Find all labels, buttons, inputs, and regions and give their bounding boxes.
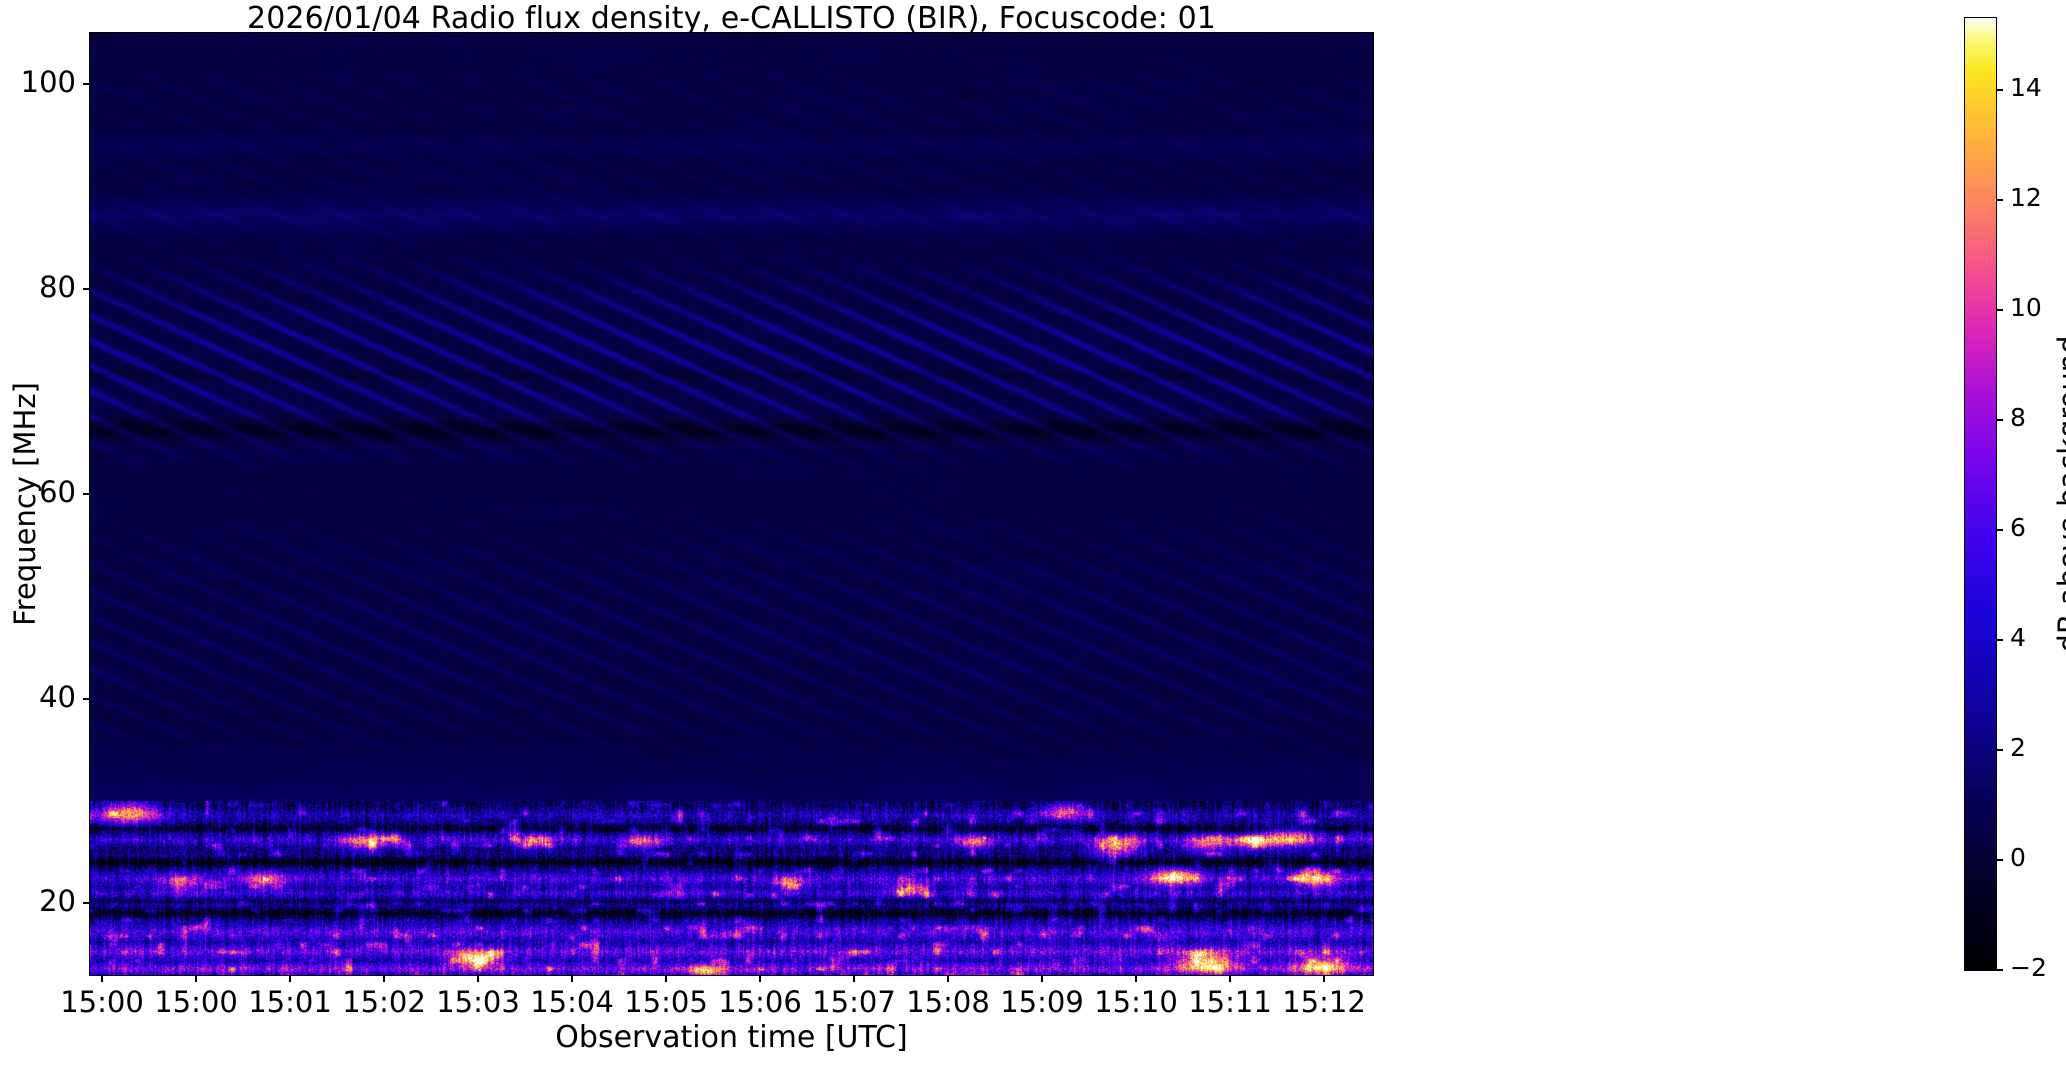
colorbar-label: dB above background bbox=[2052, 335, 2066, 652]
x-tick-mark bbox=[195, 975, 197, 982]
x-tick-mark bbox=[665, 975, 667, 982]
spectrogram-figure: 2026/01/04 Radio flux density, e-CALLIST… bbox=[0, 0, 2066, 1067]
x-tick-mark bbox=[571, 975, 573, 982]
x-tick-mark bbox=[101, 975, 103, 982]
colorbar-tick-label: 0 bbox=[2010, 843, 2026, 872]
colorbar-tick-mark bbox=[1996, 749, 2003, 751]
colorbar-tick-label: −2 bbox=[2010, 953, 2047, 982]
colorbar-tick-mark bbox=[1996, 859, 2003, 861]
colorbar-tick-mark bbox=[1996, 199, 2003, 201]
colorbar-tick-mark bbox=[1996, 89, 2003, 91]
colorbar-tick-label: 8 bbox=[2010, 403, 2026, 432]
y-axis-label: Frequency [MHz] bbox=[8, 382, 42, 626]
spectrogram-image bbox=[90, 33, 1373, 975]
colorbar-tick-label: 10 bbox=[2010, 293, 2042, 322]
x-tick-mark bbox=[477, 975, 479, 982]
colorbar-tick-label: 12 bbox=[2010, 183, 2042, 212]
colorbar-tick-mark bbox=[1996, 419, 2003, 421]
x-tick-label: 15:12 bbox=[1254, 985, 1394, 1019]
colorbar-tick-mark bbox=[1996, 529, 2003, 531]
x-axis-label: Observation time [UTC] bbox=[90, 1020, 1373, 1055]
y-tick-mark bbox=[83, 902, 90, 904]
y-tick-mark bbox=[83, 288, 90, 290]
x-tick-mark bbox=[1041, 975, 1043, 982]
colorbar-tick-label: 4 bbox=[2010, 623, 2026, 652]
x-tick-mark bbox=[1323, 975, 1325, 982]
colorbar bbox=[1965, 18, 1996, 970]
y-tick-label: 40 bbox=[0, 680, 76, 714]
y-tick-label: 20 bbox=[0, 884, 76, 918]
x-tick-mark bbox=[1229, 975, 1231, 982]
x-tick-mark bbox=[383, 975, 385, 982]
y-tick-mark bbox=[83, 493, 90, 495]
spectrogram-plot-area[interactable] bbox=[90, 33, 1373, 975]
y-tick-label: 80 bbox=[0, 270, 76, 304]
y-tick-mark bbox=[83, 698, 90, 700]
colorbar-tick-label: 14 bbox=[2010, 73, 2042, 102]
y-tick-label: 100 bbox=[0, 65, 76, 99]
x-tick-mark bbox=[1135, 975, 1137, 982]
colorbar-tick-mark bbox=[1996, 639, 2003, 641]
figure-title: 2026/01/04 Radio flux density, e-CALLIST… bbox=[90, 1, 1373, 36]
colorbar-tick-mark bbox=[1996, 969, 2003, 971]
x-tick-mark bbox=[289, 975, 291, 982]
colorbar-tick-mark bbox=[1996, 309, 2003, 311]
colorbar-tick-label: 2 bbox=[2010, 733, 2026, 762]
colorbar-gradient bbox=[1965, 18, 1996, 970]
y-tick-mark bbox=[83, 83, 90, 85]
x-tick-mark bbox=[759, 975, 761, 982]
x-tick-mark bbox=[853, 975, 855, 982]
colorbar-tick-label: 6 bbox=[2010, 513, 2026, 542]
x-tick-mark bbox=[947, 975, 949, 982]
